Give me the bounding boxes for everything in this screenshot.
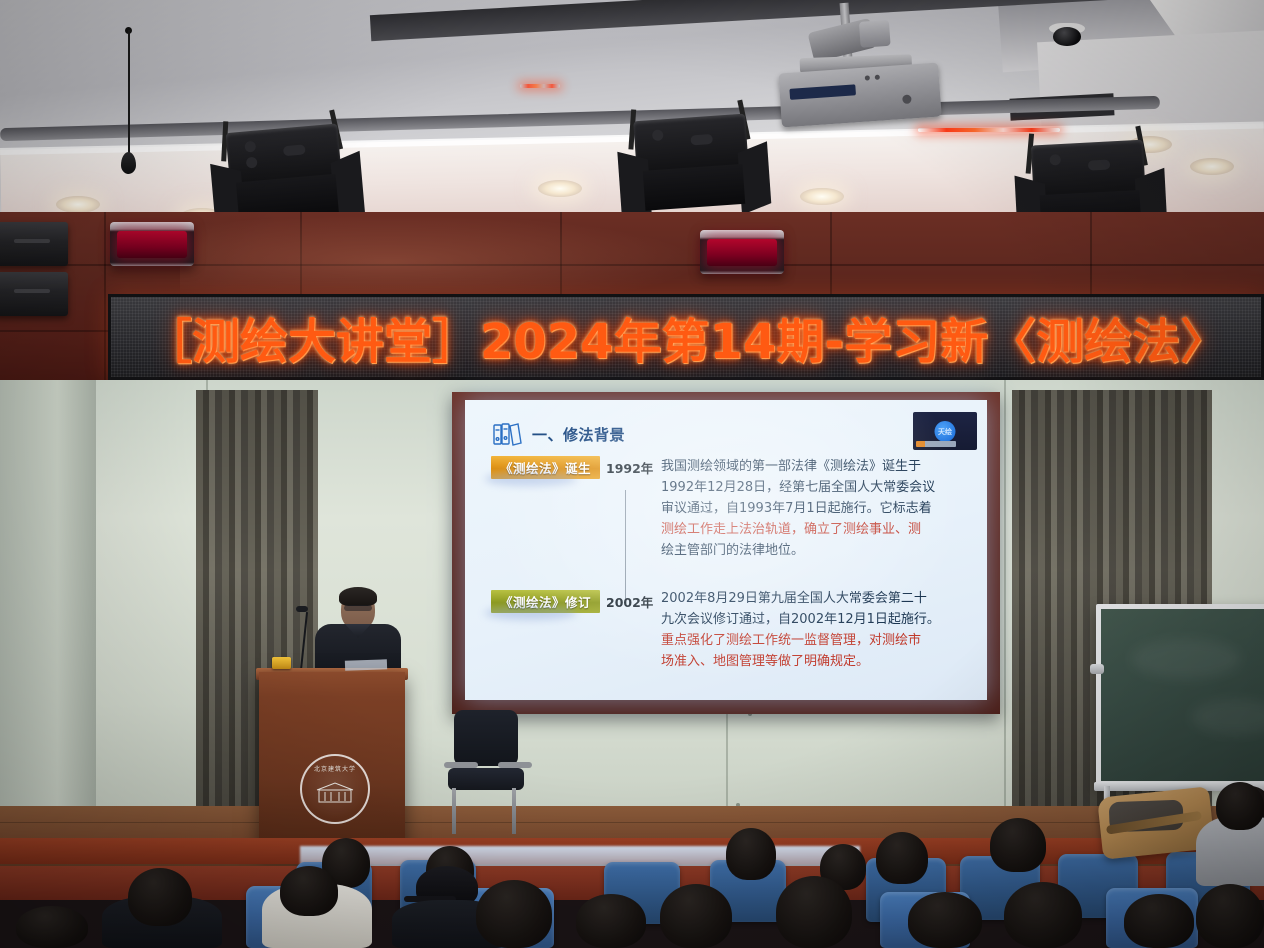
- chalkboard: [1096, 604, 1264, 786]
- audience-head: [476, 880, 552, 948]
- floor-plank-line: [0, 822, 1264, 823]
- body-line-highlighted: 重点强化了测绘工作统一监督管理，对测绘市: [661, 633, 921, 648]
- audience-head: [128, 868, 192, 926]
- lecture-hall-photo: ［测绘大讲堂］2024年第14期-学习新〈测绘法〉: [0, 0, 1264, 948]
- audience-head: [1216, 782, 1264, 830]
- stage-light-knob: [1049, 154, 1061, 166]
- chalk-smudge: [1131, 639, 1241, 679]
- body-line: 我国测绘领域的第一部法律《测绘法》诞生于: [661, 459, 921, 474]
- chair-seat: [448, 768, 524, 790]
- audience-head: [776, 876, 852, 948]
- downlight: [56, 196, 100, 213]
- chalk-smudge: [1191, 699, 1264, 735]
- slide-title: 一、修法背景: [532, 424, 625, 445]
- audience-head: [726, 828, 776, 880]
- speaker-grill: [14, 239, 50, 243]
- wall-column: [0, 380, 96, 850]
- projector-indicator: [902, 94, 912, 104]
- audience-head: [16, 906, 88, 948]
- audience-head: [280, 866, 338, 916]
- dome-camera-lens: [1053, 27, 1081, 46]
- wall-light-lamp: [707, 239, 777, 266]
- timeline-entry-2: 《测绘法》修订2002年: [491, 590, 659, 617]
- binder-icon: [493, 422, 523, 446]
- wall-seam: [1004, 380, 1006, 810]
- projector-indicator: [875, 75, 880, 80]
- body-line-highlighted: 场准入、地图管理等做了明确规定。: [661, 654, 869, 669]
- timeline-year-1: 1992年: [606, 461, 653, 476]
- wall-light-fixture: [110, 222, 194, 266]
- timeline-body-2: 2002年8月29日第九届全国人大常委会第二十 九次会议修订通过，自2002年1…: [661, 588, 951, 672]
- timeline-body-1: 我国测绘领域的第一部法律《测绘法》诞生于 1992年12月28日，经第七届全国人…: [661, 456, 951, 561]
- dome-camera-icon: [1049, 23, 1085, 45]
- projection-screen: 一、修法背景 天绘 《测绘法》诞生1992年 我国测绘领域的第一部法律《测绘法》…: [465, 400, 987, 700]
- ceiling-red-led-accent: [520, 84, 560, 88]
- projector-indicator: [865, 75, 870, 80]
- slide-title-row: 一、修法背景: [493, 422, 625, 446]
- wall-speaker: [0, 272, 68, 316]
- chalkboard-clamp: [1090, 664, 1104, 674]
- timeline-label-wrap-1: 《测绘法》诞生1992年: [491, 456, 659, 479]
- podium-nameplate: [272, 657, 291, 669]
- stage-light-knob: [652, 129, 664, 141]
- downlight: [538, 180, 582, 197]
- body-line-highlighted: 测绘工作走上法治轨道，确立了测绘事业、测: [661, 522, 921, 537]
- projector-body: [778, 62, 941, 127]
- body-line: 2002年8月29日第九届全国人大常委会第二十: [661, 591, 927, 606]
- chair-leg: [512, 788, 516, 834]
- stage-light-lens: [643, 164, 746, 211]
- stage-chair: [440, 710, 532, 832]
- timeline-label-wrap-2: 《测绘法》修订2002年: [491, 590, 659, 613]
- label-shadow: [485, 606, 577, 620]
- body-line: 1992年12月28日，经第七届全国人大常委会议: [661, 480, 935, 495]
- body-line: 审议通过，自1993年7月1日起施行。它标志着: [661, 501, 932, 516]
- body-line: 绘主管部门的法律地位。: [661, 543, 804, 558]
- wood-seam: [104, 212, 106, 402]
- stage-light-knob: [246, 157, 258, 169]
- audience-head: [1124, 894, 1194, 948]
- body-line: 九次会议修订通过，自2002年12月1日起施行。: [661, 612, 940, 627]
- projector-vent: [789, 84, 856, 100]
- timeline-axis: [625, 490, 626, 604]
- projector-lens-hood: [859, 20, 891, 48]
- wall-light-fixture: [700, 230, 784, 274]
- ceiling-red-led-strip: [918, 128, 1060, 132]
- stage-light-vent: [283, 144, 306, 156]
- audience-head: [576, 894, 646, 948]
- led-banner-text: ［测绘大讲堂］2024年第14期-学习新〈测绘法〉: [111, 297, 1261, 377]
- mic-capsule: [121, 152, 136, 174]
- audience-head: [1004, 882, 1082, 948]
- wall-light-lamp: [117, 231, 187, 258]
- downlight: [800, 188, 844, 205]
- wall-speaker: [0, 222, 68, 266]
- audience-head: [1196, 884, 1264, 948]
- downlight: [1190, 158, 1234, 175]
- tianhui-logo-icon: 天绘: [935, 421, 956, 442]
- stage-light-vent: [690, 134, 713, 146]
- label-shadow: [485, 472, 577, 486]
- timeline-year-2: 2002年: [606, 595, 653, 610]
- speaker-grill: [14, 289, 50, 293]
- timeline-entry-1: 《测绘法》诞生1992年: [491, 456, 659, 483]
- led-banner: ［测绘大讲堂］2024年第14期-学习新〈测绘法〉: [108, 294, 1264, 380]
- watermark-badge: [916, 441, 956, 447]
- podium-papers: [345, 659, 387, 670]
- slide-watermark: 天绘: [913, 412, 977, 450]
- audience-head: [876, 832, 928, 884]
- emblem-building-icon: [313, 780, 357, 804]
- audience-head: [908, 892, 982, 948]
- mic-cable: [128, 30, 130, 156]
- chair-leg: [452, 788, 456, 834]
- stage-light-vent: [1088, 159, 1110, 170]
- audience-head: [990, 818, 1046, 872]
- presenter-hair: [339, 587, 377, 606]
- stage-light-knob: [244, 141, 256, 153]
- chair-backrest: [454, 710, 518, 766]
- university-emblem: 北京建筑大学: [300, 754, 370, 824]
- presenter-glasses: [344, 605, 372, 611]
- ceiling-projector: [778, 56, 942, 133]
- emblem-text: 北京建筑大学: [312, 764, 358, 780]
- audience-head: [660, 884, 732, 948]
